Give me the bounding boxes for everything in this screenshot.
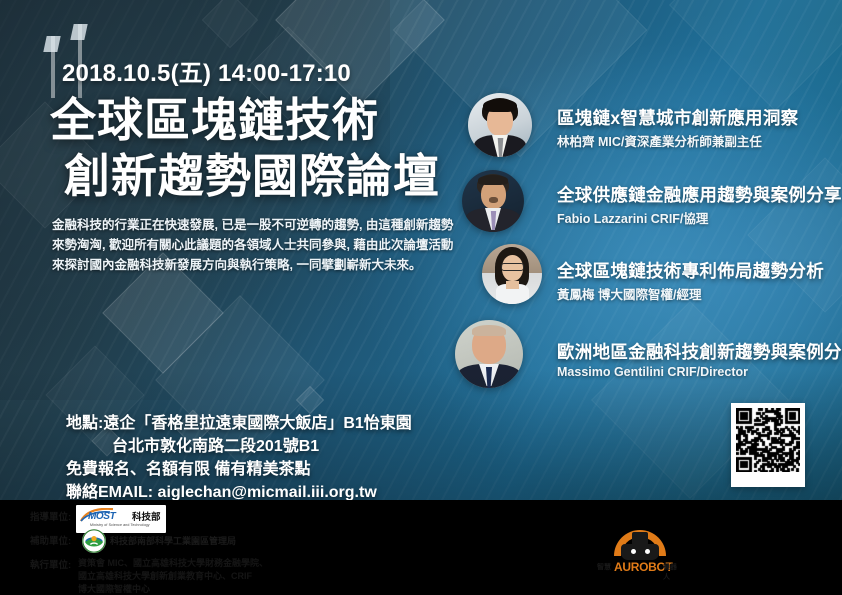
poster-canvas: 2018.10.5(五) 14:00-17:10 全球區塊鏈技術 創新趨勢國際論… (0, 0, 842, 595)
aurobot-eye-right-icon (645, 549, 650, 554)
aurobot-cn-left: 智慧 (597, 562, 611, 572)
speaker-text: 全球供應鏈金融應用趨勢與案例分享 Fabio Lazzarini CRIF/協理 (557, 182, 842, 227)
title-line-1: 全球區塊鏈技術 (50, 94, 379, 146)
speaker-title: 區塊鏈x智慧城市創新應用洞察 (557, 105, 798, 130)
speaker-subtitle: Fabio Lazzarini CRIF/協理 (557, 208, 842, 227)
most-wordmark: MOST (88, 511, 115, 522)
speaker-title: 歐洲地區金融科技創新趨勢與案例分享 (557, 339, 842, 364)
venue-line-3: 免費報名、名額有限 備有精美茶點 (66, 461, 310, 478)
most-chinese-name: 科技部 (132, 509, 161, 523)
most-english-name: Ministry of Science and Technology (90, 523, 150, 527)
speaker-photo-lin-po-chi (468, 93, 532, 157)
venue-info: 地點:遠企「香格里拉遠東國際大飯店」B1怡東園 台北市敦化南路二段201號B1 … (66, 412, 486, 504)
aurobot-body-icon (621, 544, 659, 560)
science-park-logo (82, 529, 106, 553)
footer-label-subsidy: 補助單位: (30, 533, 71, 547)
speaker-text: 區塊鏈x智慧城市創新應用洞察 林柏齊 MIC/資深產業分析師兼副主任 (557, 105, 798, 150)
title-line-2: 創新趨勢國際論壇 (50, 148, 470, 204)
aurobot-eye-left-icon (631, 549, 636, 554)
science-park-emblem-icon (82, 529, 106, 553)
venue-contact-email[interactable]: 聯絡EMAIL: aiglechan@micmail.iii.org.tw (66, 484, 377, 501)
page-title: 全球區塊鏈技術 創新趨勢國際論壇 (50, 92, 470, 204)
speaker-text: 全球區塊鏈技術專利佈局趨勢分析 黃鳳梅 博大國際智權/經理 (557, 258, 824, 303)
registration-qr-code[interactable] (731, 403, 805, 487)
speaker-title: 全球區塊鏈技術專利佈局趨勢分析 (557, 258, 824, 283)
footer-value-execution: 資策會 MIC、國立高雄科技大學財務金融學院、 國立高雄科技大學創新創業教育中心… (78, 557, 268, 595)
speaker-subtitle: 林柏齊 MIC/資深產業分析師兼副主任 (557, 131, 798, 150)
aurobot-cn-right: 機器人 (663, 562, 679, 582)
event-description: 金融科技的行業正在快速發展, 已是一股不可逆轉的趨勢, 由這種創新趨勢來勢洶洶,… (52, 215, 462, 275)
venue-line-1: 地點:遠企「香格里拉遠東國際大飯店」B1怡東園 (66, 415, 412, 432)
footer-label-execution: 執行單位: (30, 557, 71, 571)
aurobot-logo: AUROBOT 智慧 機器人 (601, 528, 679, 578)
speaker-photo-huang-feng-mei (482, 244, 542, 304)
speaker-title: 全球供應鏈金融應用趨勢與案例分享 (557, 182, 842, 207)
footer-label-guidance: 指導單位: (30, 509, 71, 523)
venue-line-2: 台北市敦化南路二段201號B1 (66, 435, 486, 458)
speaker-photo-fabio-lazzarini (462, 170, 524, 232)
speaker-subtitle: 黃鳳梅 博大國際智權/經理 (557, 284, 824, 303)
event-date: 2018.10.5(五) 14:00-17:10 (62, 53, 351, 88)
footer-value-subsidy: 科技部南部科學工業園區管理局 (110, 534, 236, 547)
